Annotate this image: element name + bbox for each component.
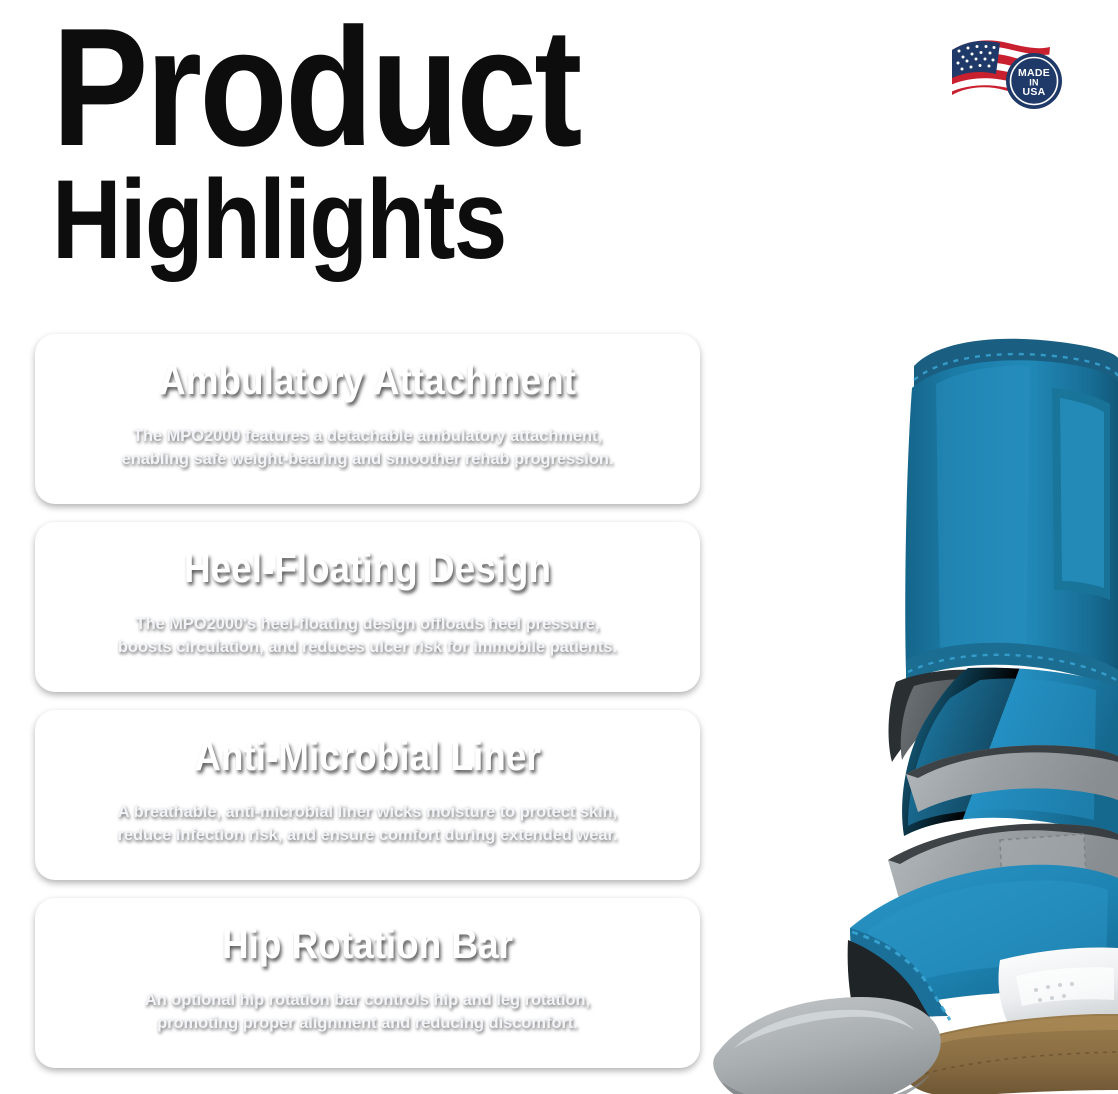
- highlight-card-description-line: reduce infection risk, and ensure comfor…: [63, 824, 672, 847]
- highlight-card-title: Anti-Microbial Liner: [88, 710, 647, 777]
- highlight-card[interactable]: Anti-Microbial Liner A breathable, anti-…: [35, 710, 700, 880]
- boot-calf-wrap: [905, 339, 1118, 692]
- highlight-card-title: Heel-Floating Design: [88, 522, 647, 589]
- badge-text-usa: USA: [1022, 86, 1045, 98]
- highlight-card-title: Ambulatory Attachment: [88, 334, 647, 401]
- highlight-card-description-line: enabling safe weight-bearing and smoothe…: [63, 448, 672, 471]
- highlight-card-description: A breathable, anti-microbial liner wicks…: [57, 801, 678, 846]
- highlight-card[interactable]: Heel-Floating Design The MPO2000's heel-…: [35, 522, 700, 692]
- highlight-card-description-line: boosts circulation, and reduces ulcer ri…: [63, 636, 672, 659]
- product-image-orthotic-boot: [700, 300, 1118, 1094]
- highlight-cards-list: Ambulatory Attachment The MPO2000 featur…: [35, 334, 700, 1086]
- highlight-card-description-line: The MPO2000 features a detachable ambula…: [63, 425, 672, 448]
- page-title-line-1: Product: [52, 14, 654, 162]
- highlight-card-description: An optional hip rotation bar controls hi…: [57, 989, 678, 1034]
- highlight-card-description-line: The MPO2000's heel-floating design offlo…: [63, 613, 672, 636]
- highlight-card-title: Hip Rotation Bar: [88, 898, 647, 965]
- made-in-usa-badge: MADE IN USA: [946, 32, 1068, 120]
- highlight-card-description: The MPO2000 features a detachable ambula…: [57, 425, 678, 470]
- highlight-card[interactable]: Hip Rotation Bar An optional hip rotatio…: [35, 898, 700, 1068]
- made-in-usa-seal-icon: MADE IN USA: [1006, 53, 1062, 109]
- highlight-card-description-line: promoting proper alignment and reducing …: [63, 1012, 672, 1035]
- page-title-line-2: Highlights: [52, 168, 654, 271]
- highlight-card-description: The MPO2000's heel-floating design offlo…: [57, 613, 678, 658]
- highlight-card[interactable]: Ambulatory Attachment The MPO2000 featur…: [35, 334, 700, 504]
- boot-toe-bumper: [713, 997, 941, 1094]
- highlight-card-description-line: A breathable, anti-microbial liner wicks…: [63, 801, 672, 824]
- highlight-card-description-line: An optional hip rotation bar controls hi…: [63, 989, 672, 1012]
- page-title: Product Highlights: [52, 14, 752, 271]
